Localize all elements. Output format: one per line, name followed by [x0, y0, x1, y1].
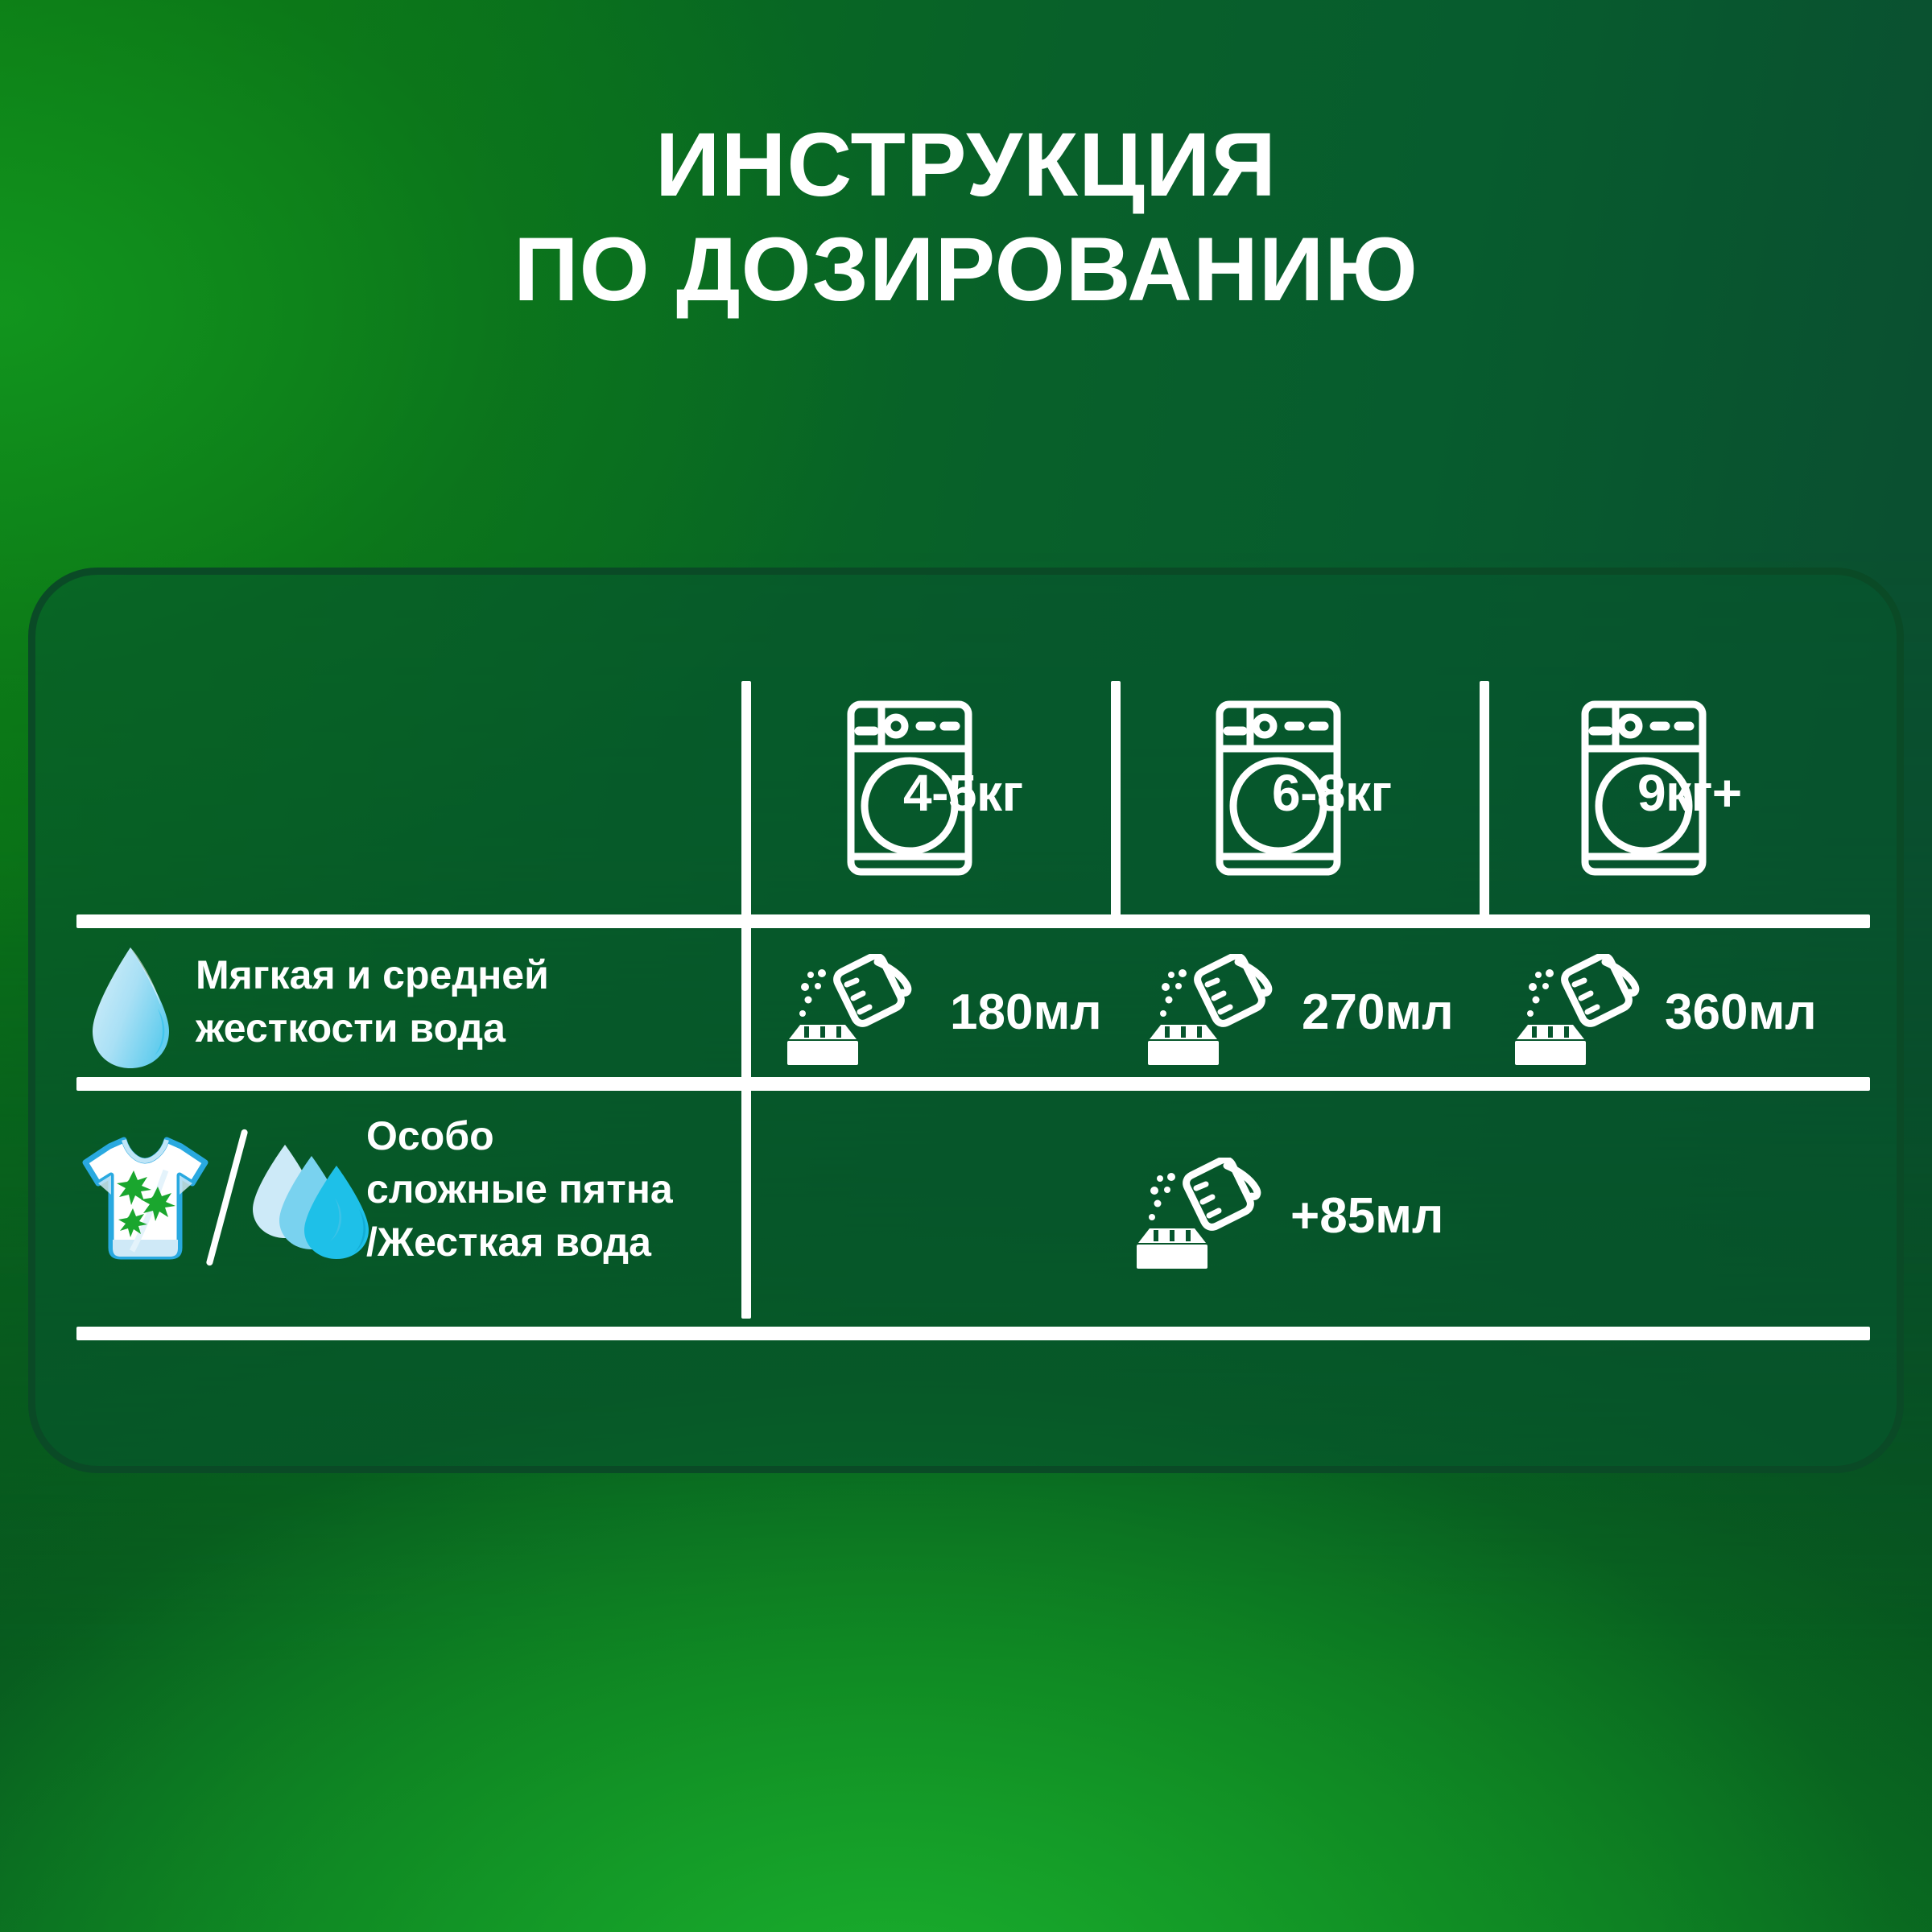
table-hline-bottom: [76, 1327, 1870, 1340]
row-2-separator: [205, 1129, 248, 1266]
dosing-cup-icon: [1125, 1158, 1286, 1270]
column-header-label-3: 9кг+: [1637, 763, 1742, 823]
washing-machine-wrap-2: 6-8кг: [1214, 699, 1343, 888]
table-hline-middle: [76, 1077, 1870, 1091]
stained-tshirt-icon: [79, 1133, 212, 1262]
column-header-2: 6-8кг: [1214, 692, 1480, 894]
row-label-2: Особо сложные пятна /Жесткая вода: [366, 1109, 745, 1269]
dose-value-1-2: 270мл: [1302, 984, 1454, 1041]
column-header-1: 4-5кг: [845, 692, 1111, 894]
table-vline-2: [1111, 681, 1121, 919]
dosage-table: 4-5кг 6-8кг: [0, 0, 1932, 1932]
water-drop-icon: [89, 946, 173, 1071]
table-hline-top: [76, 914, 1870, 928]
column-header-label-2: 6-8кг: [1272, 763, 1392, 823]
dosing-cup-icon: [1504, 954, 1665, 1067]
dose-value-2-1: +85мл: [1290, 1187, 1443, 1245]
column-header-3: 9кг+: [1579, 692, 1845, 894]
dosing-cup-icon: [776, 954, 937, 1067]
washing-machine-wrap-3: 9кг+: [1579, 699, 1708, 888]
dose-value-1-3: 360мл: [1665, 984, 1817, 1041]
triple-water-drop-icon: [248, 1141, 373, 1264]
column-header-label-1: 4-5кг: [903, 763, 1023, 823]
washing-machine-wrap-1: 4-5кг: [845, 699, 974, 888]
dosing-cup-icon: [1137, 954, 1298, 1067]
table-vline-3: [1480, 681, 1489, 919]
dose-value-1-1: 180мл: [950, 984, 1102, 1041]
row-label-1: Мягкая и средней жесткости вода: [196, 948, 695, 1055]
